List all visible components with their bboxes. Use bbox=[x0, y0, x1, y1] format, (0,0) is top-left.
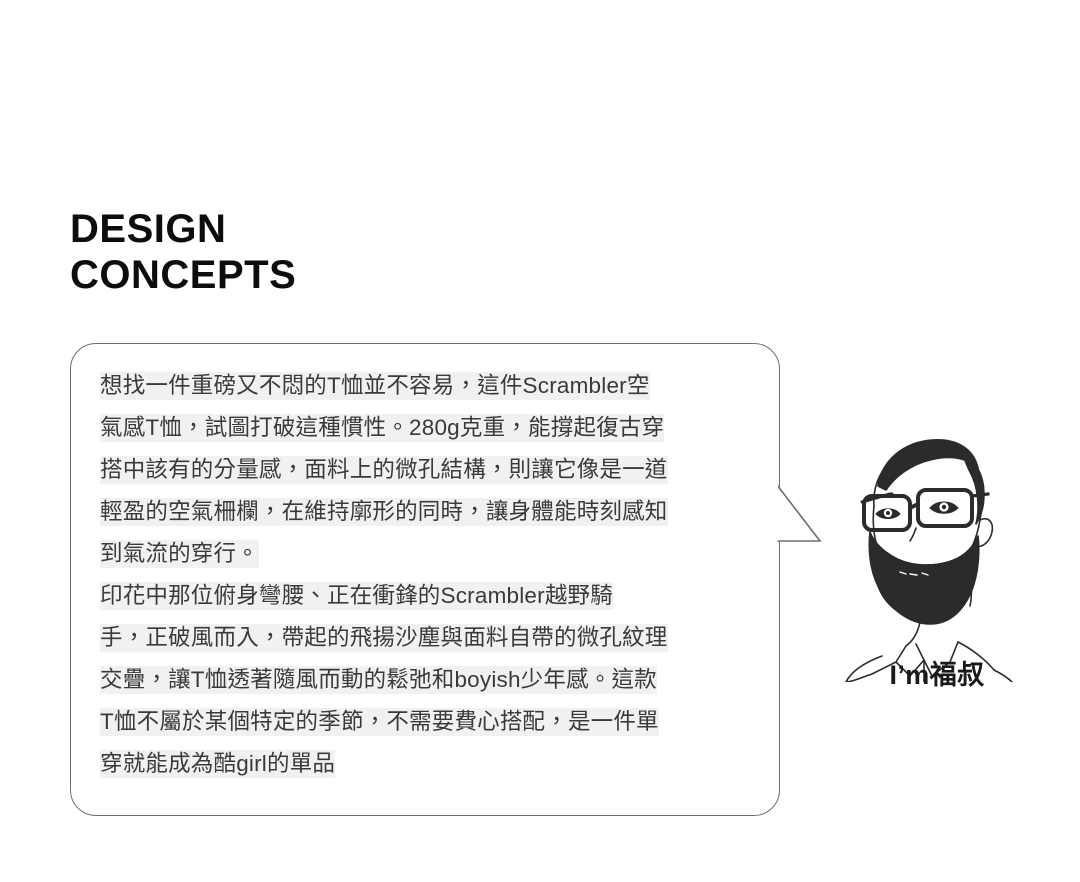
description-paragraph-1: 想找一件重磅又不悶的T恤並不容易，這件Scrambler空 氣感T恤，試圖打破這… bbox=[100, 365, 756, 575]
description-paragraph-2: 印花中那位俯身彎腰、正在衝鋒的Scrambler越野騎 手，正破風而入，帶起的飛… bbox=[100, 575, 756, 785]
paragraph-2-line-3: 交疊，讓T恤透著隨風而動的鬆弛和boyish少年感。這款 bbox=[100, 659, 756, 701]
paragraph-1-line-3: 搭中該有的分量感，面料上的微孔結構，則讓它像是一道 bbox=[100, 449, 756, 491]
figure-caption: I’m福叔 bbox=[812, 653, 1062, 692]
description-speech-bubble: 想找一件重磅又不悶的T恤並不容易，這件Scrambler空 氣感T恤，試圖打破這… bbox=[70, 343, 780, 816]
bearded-man-illustration bbox=[812, 424, 1062, 682]
paragraph-1-line-2: 氣感T恤，試圖打破這種慣性。280g克重，能撐起復古穿 bbox=[100, 407, 756, 449]
page-title: DESIGN CONCEPTS bbox=[70, 206, 630, 298]
paragraph-2-line-1: 印花中那位俯身彎腰、正在衝鋒的Scrambler越野騎 bbox=[100, 575, 756, 617]
paragraph-1-line-4: 輕盈的空氣柵欄，在維持廓形的同時，讓身體能時刻感知 bbox=[100, 491, 756, 533]
paragraph-1-line-5: 到氣流的穿行。 bbox=[100, 533, 756, 575]
page-title-line-2: CONCEPTS bbox=[70, 252, 630, 298]
speech-bubble-content: 想找一件重磅又不悶的T恤並不容易，這件Scrambler空 氣感T恤，試圖打破這… bbox=[100, 365, 756, 796]
page-title-line-1: DESIGN bbox=[70, 206, 630, 252]
paragraph-2-line-2: 手，正破風而入，帶起的飛揚沙塵與面料自帶的微孔紋理 bbox=[100, 617, 756, 659]
paragraph-2-line-5: 穿就能成為酷girl的單品 bbox=[100, 743, 756, 785]
paragraph-1-line-1: 想找一件重磅又不悶的T恤並不容易，這件Scrambler空 bbox=[100, 365, 756, 407]
paragraph-2-line-4: T恤不屬於某個特定的季節，不需要費心搭配，是一件單 bbox=[100, 701, 756, 743]
